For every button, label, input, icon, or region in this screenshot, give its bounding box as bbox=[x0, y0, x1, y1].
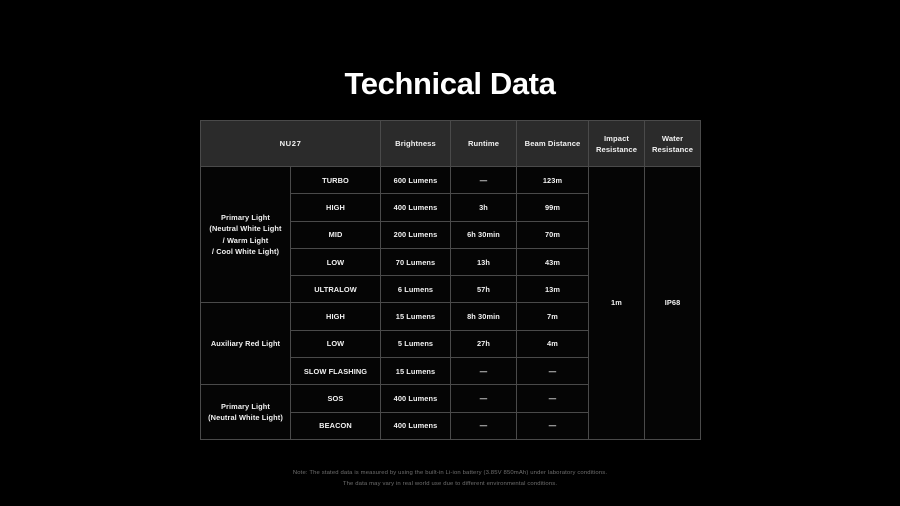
header-brand-nu27: NU27 bbox=[201, 121, 381, 167]
mode-label: HIGH bbox=[291, 194, 381, 221]
table-header-row: NU27 Brightness Runtime Beam Distance Im… bbox=[201, 121, 701, 167]
group-label-line-1: Primary Light bbox=[221, 213, 270, 222]
footnote-line-2: The data may vary in real world use due … bbox=[130, 479, 770, 490]
group-label-primary-light-multi: Primary Light (Neutral White Light / War… bbox=[201, 167, 291, 303]
mode-label: LOW bbox=[291, 330, 381, 357]
brightness-value: 600 Lumens bbox=[381, 167, 451, 194]
table-header: NU27 Brightness Runtime Beam Distance Im… bbox=[201, 121, 701, 167]
mode-label: SOS bbox=[291, 385, 381, 412]
brightness-value: 6 Lumens bbox=[381, 276, 451, 303]
table-body: Primary Light (Neutral White Light / War… bbox=[201, 167, 701, 440]
beam-distance-value: 123m bbox=[517, 167, 589, 194]
beam-distance-value: 4m bbox=[517, 330, 589, 357]
runtime-value: 57h bbox=[451, 276, 517, 303]
water-resistance-value: IP68 bbox=[645, 167, 701, 440]
impact-resistance-value: 1m bbox=[589, 167, 645, 440]
group-label-line-2: (Neutral White Light bbox=[209, 224, 281, 233]
beam-distance-value: — bbox=[517, 385, 589, 412]
technical-data-table-container: NU27 Brightness Runtime Beam Distance Im… bbox=[200, 120, 700, 440]
beam-distance-value: 99m bbox=[517, 194, 589, 221]
mode-label: TURBO bbox=[291, 167, 381, 194]
page-title: Technical Data bbox=[345, 66, 556, 102]
header-water-resistance-line1: Water bbox=[662, 134, 683, 143]
technical-data-table: NU27 Brightness Runtime Beam Distance Im… bbox=[200, 120, 701, 440]
beam-distance-value: — bbox=[517, 358, 589, 385]
mode-label: BEACON bbox=[291, 412, 381, 439]
brightness-value: 15 Lumens bbox=[381, 303, 451, 330]
header-runtime: Runtime bbox=[451, 121, 517, 167]
brightness-value: 400 Lumens bbox=[381, 412, 451, 439]
mode-label: MID bbox=[291, 221, 381, 248]
runtime-value: 6h 30min bbox=[451, 221, 517, 248]
runtime-value: 27h bbox=[451, 330, 517, 357]
beam-distance-value: 7m bbox=[517, 303, 589, 330]
header-impact-resistance: Impact Resistance bbox=[589, 121, 645, 167]
brightness-value: 15 Lumens bbox=[381, 358, 451, 385]
header-water-resistance: Water Resistance bbox=[645, 121, 701, 167]
runtime-value: — bbox=[451, 412, 517, 439]
beam-distance-value: 43m bbox=[517, 248, 589, 275]
group-label-line-3: / Warm Light bbox=[223, 236, 269, 245]
group-label-primary-light-neutral: Primary Light (Neutral White Light) bbox=[201, 385, 291, 440]
beam-distance-value: — bbox=[517, 412, 589, 439]
header-impact-resistance-line2: Resistance bbox=[596, 145, 637, 154]
group-label-line-2: (Neutral White Light) bbox=[208, 413, 283, 422]
group-label-line-1: Primary Light bbox=[221, 402, 270, 411]
brightness-value: 400 Lumens bbox=[381, 194, 451, 221]
runtime-value: — bbox=[451, 358, 517, 385]
runtime-value: 3h bbox=[451, 194, 517, 221]
brightness-value: 400 Lumens bbox=[381, 385, 451, 412]
mode-label: ULTRALOW bbox=[291, 276, 381, 303]
mode-label: HIGH bbox=[291, 303, 381, 330]
runtime-value: — bbox=[451, 385, 517, 412]
brightness-value: 70 Lumens bbox=[381, 248, 451, 275]
runtime-value: — bbox=[451, 167, 517, 194]
runtime-value: 13h bbox=[451, 248, 517, 275]
beam-distance-value: 13m bbox=[517, 276, 589, 303]
header-beam-distance: Beam Distance bbox=[517, 121, 589, 167]
table-row: Primary Light (Neutral White Light / War… bbox=[201, 167, 701, 194]
header-water-resistance-line2: Resistance bbox=[652, 145, 693, 154]
mode-label: SLOW FLASHING bbox=[291, 358, 381, 385]
brightness-value: 5 Lumens bbox=[381, 330, 451, 357]
group-label-line-4: / Cool White Light) bbox=[212, 247, 279, 256]
mode-label: LOW bbox=[291, 248, 381, 275]
footnote-line-1: Note: The stated data is measured by usi… bbox=[130, 468, 770, 479]
runtime-value: 8h 30min bbox=[451, 303, 517, 330]
header-brightness: Brightness bbox=[381, 121, 451, 167]
group-label-auxiliary-red-light: Auxiliary Red Light bbox=[201, 303, 291, 385]
brightness-value: 200 Lumens bbox=[381, 221, 451, 248]
footnote: Note: The stated data is measured by usi… bbox=[130, 468, 770, 490]
header-impact-resistance-line1: Impact bbox=[604, 134, 629, 143]
beam-distance-value: 70m bbox=[517, 221, 589, 248]
